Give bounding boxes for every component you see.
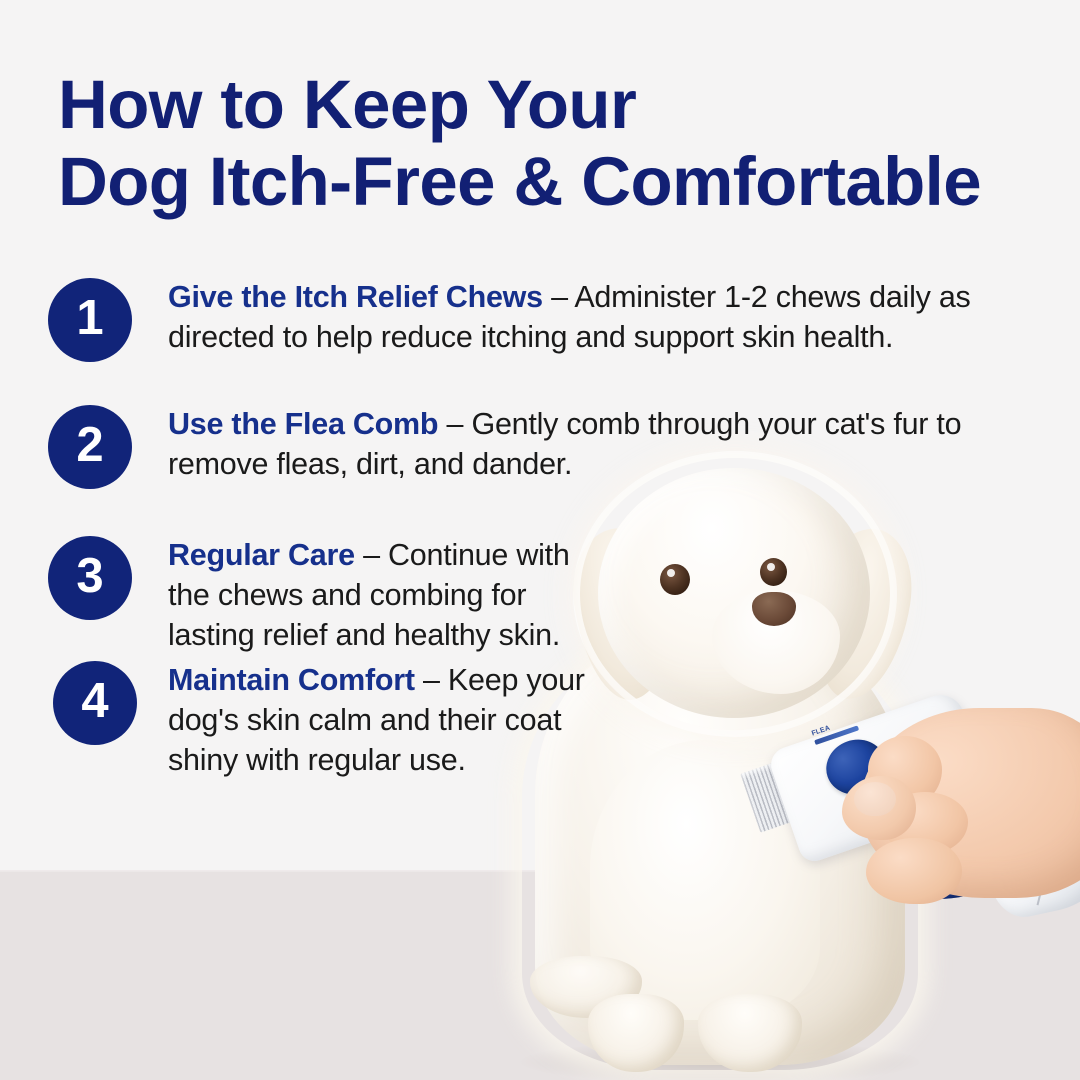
step-text-4: Maintain Comfort – Keep your dog's skin …: [168, 661, 588, 781]
dog-head-fur-rim: [580, 458, 890, 730]
step-text-1: Give the Itch Relief Chews – Administer …: [168, 278, 988, 358]
hand-thumb-nail: [854, 782, 896, 816]
dog-eye-right: [760, 558, 787, 586]
step-lead-1: Give the Itch Relief Chews: [168, 280, 543, 314]
list-item-step-1: 1 Give the Itch Relief Chews – Administe…: [48, 278, 978, 358]
list-item-step-3: 3 Regular Care – Continue with the chews…: [48, 536, 518, 656]
step-lead-2: Use the Flea Comb: [168, 407, 438, 441]
page-title: How to Keep Your Dog Itch-Free & Comfort…: [58, 66, 1018, 221]
list-item-step-4: 4 Maintain Comfort – Keep your dog's ski…: [53, 661, 523, 781]
step-number-badge-1: 1: [48, 278, 132, 362]
step-number-badge-4: 4: [53, 661, 137, 745]
step-text-3: Regular Care – Continue with the chews a…: [168, 536, 588, 656]
page-title-line-one: How to Keep Your: [58, 66, 636, 143]
step-lead-4: Maintain Comfort: [168, 663, 415, 697]
list-item-step-2: 2 Use the Flea Comb – Gently comb throug…: [48, 405, 978, 485]
page-title-line-two: Dog Itch-Free & Comfortable: [58, 143, 1018, 220]
hand-finger-lower: [866, 838, 962, 904]
step-text-2: Use the Flea Comb – Gently comb through …: [168, 405, 988, 485]
infographic-poster: FLEA How to Keep Your Dog Itch-Free & Co…: [0, 0, 1080, 1080]
step-number-badge-3: 3: [48, 536, 132, 620]
step-number-badge-2: 2: [48, 405, 132, 489]
dog-eye-left: [660, 564, 690, 595]
step-lead-3: Regular Care: [168, 538, 355, 572]
